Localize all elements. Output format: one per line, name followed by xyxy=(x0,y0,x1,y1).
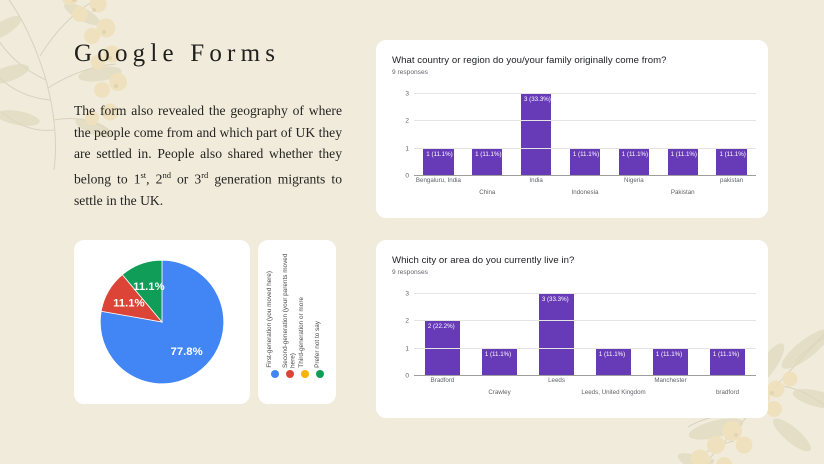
bar-slot: 2 (22.2%) xyxy=(414,294,471,376)
x-label-slot: Bengaluru, India xyxy=(414,176,463,206)
y-axis-tick: 1 xyxy=(405,345,409,352)
x-axis-label: bradford xyxy=(716,389,739,396)
x-label-slot: Bradford xyxy=(414,376,471,406)
x-label-slot: Pakistan xyxy=(658,176,707,206)
bars-city: 2 (22.2%)1 (11.1%)3 (33.3%)1 (11.1%)1 (1… xyxy=(414,294,756,376)
gridline xyxy=(414,148,756,149)
x-axis-label: Bradford xyxy=(431,377,455,384)
y-axis-tick: 2 xyxy=(405,318,409,325)
bar-chart-card-city: Which city or area do you currently live… xyxy=(376,240,768,418)
pie-legend-card: First-generation (you moved here)Second-… xyxy=(258,240,336,404)
gridline xyxy=(414,120,756,121)
legend-color-dot xyxy=(271,370,279,378)
x-axis-label: pakistan xyxy=(720,177,743,184)
x-axis-label: Crawley xyxy=(488,389,510,396)
bar[interactable]: 1 (11.1%) xyxy=(619,149,649,176)
y-axis-tick: 1 xyxy=(405,145,409,152)
gridline xyxy=(414,93,756,94)
x-axis-label: Indonesia xyxy=(572,189,599,196)
bar-slot: 1 (11.1%) xyxy=(658,94,707,176)
bar-value-label: 1 (11.1%) xyxy=(622,151,648,158)
plot-inner-country: 1 (11.1%)1 (11.1%)3 (33.3%)1 (11.1%)1 (1… xyxy=(414,94,756,176)
bar[interactable]: 1 (11.1%) xyxy=(423,149,453,176)
bar[interactable]: 3 (33.3%) xyxy=(539,294,574,376)
x-label-slot: pakistan xyxy=(707,176,756,206)
x-label-slot: Crawley xyxy=(471,376,528,406)
bar[interactable]: 1 (11.1%) xyxy=(716,149,746,176)
bar-value-label: 2 (22.2%) xyxy=(428,323,455,330)
x-axis-label: Pakistan xyxy=(671,189,695,196)
bar-value-label: 1 (11.1%) xyxy=(475,151,501,158)
bar-value-label: 1 (11.1%) xyxy=(713,351,739,358)
legend-label: First-generation (you moved here) xyxy=(266,271,280,368)
bar-value-label: 1 (11.1%) xyxy=(719,151,745,158)
x-axis-label: Manchester xyxy=(654,377,686,384)
legend-color-dot xyxy=(301,370,309,378)
bar[interactable]: 1 (11.1%) xyxy=(570,149,600,176)
pie-chart[interactable]: 77.8%11.1%11.1% xyxy=(99,259,225,385)
legend-color-dot xyxy=(316,370,324,378)
pie-legend-labels: First-generation (you moved here)Second-… xyxy=(258,246,336,368)
x-axis-label: China xyxy=(479,189,495,196)
gridline xyxy=(414,293,756,294)
y-axis-tick: 3 xyxy=(405,291,409,298)
bar[interactable]: 1 (11.1%) xyxy=(668,149,698,176)
chart-responses-country: 9 responses xyxy=(392,69,428,76)
pie-slice-value: 11.1% xyxy=(133,281,165,293)
plot-area-country: 1 (11.1%)1 (11.1%)3 (33.3%)1 (11.1%)1 (1… xyxy=(392,88,758,210)
x-axis-labels-country: Bengaluru, IndiaChinaIndiaIndonesiaNiger… xyxy=(414,176,756,206)
bar-chart-card-country: What country or region do you/your famil… xyxy=(376,40,768,218)
legend-label: Second-generation (your parents moved he… xyxy=(282,248,296,368)
pie-slice-value: 77.8% xyxy=(171,346,203,358)
x-label-slot: China xyxy=(463,176,512,206)
bar-slot: 1 (11.1%) xyxy=(561,94,610,176)
y-axis-tick: 2 xyxy=(405,118,409,125)
legend-label: Prefer not to say xyxy=(314,321,328,368)
pie-legend-dots xyxy=(258,370,336,378)
x-axis-labels-city: BradfordCrawleyLeedsLeeds, United Kingdo… xyxy=(414,376,756,406)
y-axis-tick: 0 xyxy=(405,373,409,380)
bar-slot: 3 (33.3%) xyxy=(528,294,585,376)
bar[interactable]: 1 (11.1%) xyxy=(472,149,502,176)
bar-slot: 1 (11.1%) xyxy=(414,94,463,176)
bars-country: 1 (11.1%)1 (11.1%)3 (33.3%)1 (11.1%)1 (1… xyxy=(414,94,756,176)
x-axis-label: Leeds xyxy=(548,377,565,384)
chart-title-city: Which city or area do you currently live… xyxy=(392,255,574,266)
bar-value-label: 1 (11.1%) xyxy=(573,151,599,158)
bar-value-label: 1 (11.1%) xyxy=(656,351,682,358)
plot-inner-city: 2 (22.2%)1 (11.1%)3 (33.3%)1 (11.1%)1 (1… xyxy=(414,294,756,376)
title-block: Google Forms xyxy=(74,40,356,68)
y-axis-tick: 0 xyxy=(405,173,409,180)
bar-value-label: 1 (11.1%) xyxy=(599,351,625,358)
x-axis-label: Nigeria xyxy=(624,177,644,184)
gridline xyxy=(414,348,756,349)
x-label-slot: Indonesia xyxy=(561,176,610,206)
bar-value-label: 3 (33.3%) xyxy=(524,96,551,103)
bar-value-label: 3 (33.3%) xyxy=(542,296,569,303)
bar-value-label: 1 (11.1%) xyxy=(485,351,511,358)
body-paragraph: The form also revealed the geography of … xyxy=(74,100,342,211)
chart-responses-city: 9 responses xyxy=(392,269,428,276)
pie-slices xyxy=(100,260,223,383)
gridline xyxy=(414,320,756,321)
x-label-slot: bradford xyxy=(699,376,756,406)
bar-value-label: 1 (11.1%) xyxy=(671,151,697,158)
bar-slot: 1 (11.1%) xyxy=(699,294,756,376)
chart-title-country: What country or region do you/your famil… xyxy=(392,55,667,66)
bar[interactable]: 3 (33.3%) xyxy=(521,94,551,176)
x-label-slot: Leeds, United Kingdom xyxy=(585,376,642,406)
x-label-slot: Leeds xyxy=(528,376,585,406)
legend-color-dot xyxy=(286,370,294,378)
x-label-slot: Nigeria xyxy=(609,176,658,206)
x-label-slot: India xyxy=(512,176,561,206)
x-label-slot: Manchester xyxy=(642,376,699,406)
bar-slot: 3 (33.3%) xyxy=(512,94,561,176)
bar-slot: 1 (11.1%) xyxy=(585,294,642,376)
pie-slice-value: 11.1% xyxy=(113,298,145,310)
plot-area-city: 2 (22.2%)1 (11.1%)3 (33.3%)1 (11.1%)1 (1… xyxy=(392,288,758,410)
pie-chart-card: 77.8%11.1%11.1% xyxy=(74,240,250,404)
bar[interactable]: 1 (11.1%) xyxy=(710,349,745,376)
bar[interactable]: 1 (11.1%) xyxy=(482,349,517,376)
bar-slot: 1 (11.1%) xyxy=(471,294,528,376)
bar[interactable]: 1 (11.1%) xyxy=(596,349,631,376)
legend-label: Third-generation or more xyxy=(298,297,312,368)
y-axis-tick: 3 xyxy=(405,91,409,98)
pie-chart-svg: 77.8%11.1%11.1% xyxy=(99,259,225,385)
page-title: Google Forms xyxy=(74,40,356,68)
x-axis-label: Bengaluru, India xyxy=(416,177,461,184)
bar-value-label: 1 (11.1%) xyxy=(426,151,452,158)
bar-slot: 1 (11.1%) xyxy=(707,94,756,176)
bar-slot: 1 (11.1%) xyxy=(463,94,512,176)
x-axis-label: India xyxy=(529,177,542,184)
bar-slot: 1 (11.1%) xyxy=(609,94,658,176)
bar[interactable]: 2 (22.2%) xyxy=(425,321,460,376)
x-axis-label: Leeds, United Kingdom xyxy=(581,389,645,396)
bar-slot: 1 (11.1%) xyxy=(642,294,699,376)
bar[interactable]: 1 (11.1%) xyxy=(653,349,688,376)
